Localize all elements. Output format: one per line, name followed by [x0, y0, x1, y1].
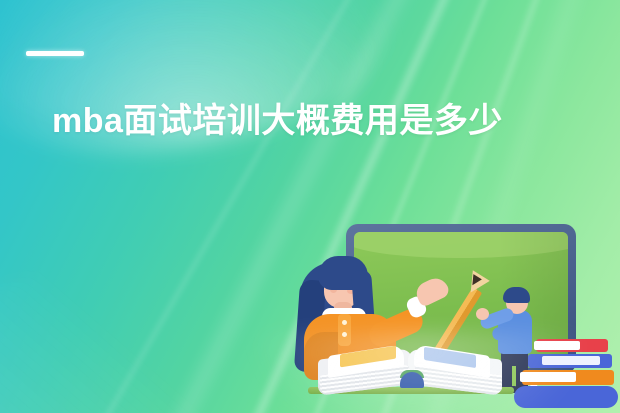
boy-hair	[503, 287, 530, 303]
book-orange-pages	[520, 372, 576, 382]
woman-placket	[338, 314, 351, 346]
woman-button	[342, 320, 347, 325]
search-pill[interactable]	[514, 386, 618, 408]
book-red-pages	[534, 341, 580, 350]
woman-button	[342, 332, 347, 337]
light-swoosh-upper	[0, 0, 427, 185]
boy-hand	[476, 308, 489, 320]
page-title: mba面试培训大概费用是多少	[52, 101, 582, 141]
book-blue-pages	[542, 356, 600, 365]
decorative-rule	[26, 51, 84, 56]
banner-card: mba面试培训大概费用是多少	[0, 0, 620, 413]
light-sheen-bottom-left	[0, 204, 331, 413]
online-education-illustration	[296, 214, 620, 413]
